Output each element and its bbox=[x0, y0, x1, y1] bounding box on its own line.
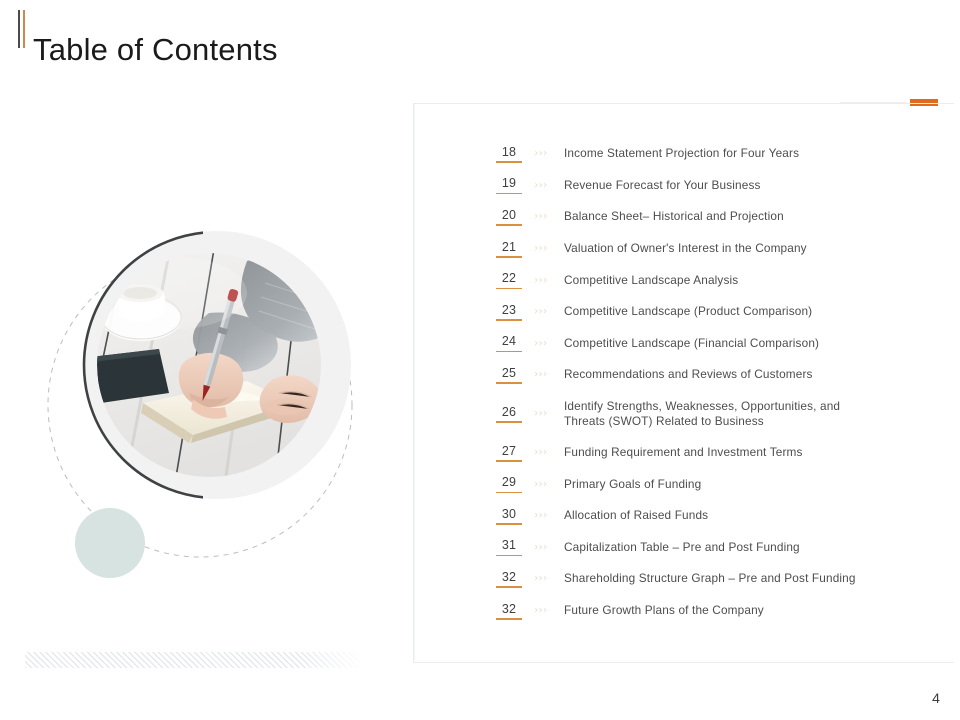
toc-label: Competitive Landscape (Product Compariso… bbox=[558, 304, 914, 319]
toc-number-cell: 20 bbox=[494, 208, 524, 226]
toc-label: Funding Requirement and Investment Terms bbox=[558, 445, 914, 460]
toc-row[interactable]: 30 ››› Allocation of Raised Funds bbox=[494, 500, 914, 532]
toc-label: Capitalization Table – Pre and Post Fund… bbox=[558, 540, 914, 555]
toc-number-cell: 19 bbox=[494, 176, 524, 194]
toc-number: 31 bbox=[494, 538, 524, 552]
photo-illustration-svg bbox=[97, 253, 321, 477]
toc-number-underline bbox=[496, 523, 522, 525]
hatch-band-fade bbox=[300, 652, 360, 668]
title-accent-bar-orange bbox=[23, 10, 25, 48]
toc-label: Revenue Forecast for Your Business bbox=[558, 178, 914, 193]
toc-number-cell: 26 bbox=[494, 405, 524, 423]
toc-label-line1: Identify Strengths, Weaknesses, Opportun… bbox=[564, 399, 914, 414]
chevrons-icon: ››› bbox=[524, 510, 558, 521]
toc-number-underline bbox=[496, 586, 522, 588]
toc-row[interactable]: 23 ››› Competitive Landscape (Product Co… bbox=[494, 296, 914, 328]
toc-number-underline bbox=[496, 421, 522, 423]
toc-number: 27 bbox=[494, 444, 524, 458]
chevrons-icon: ››› bbox=[524, 338, 558, 349]
toc-number-cell: 29 bbox=[494, 475, 524, 493]
toc-number-cell: 32 bbox=[494, 570, 524, 588]
toc-number: 18 bbox=[494, 145, 524, 159]
page-title: Table of Contents bbox=[33, 30, 278, 70]
toc-label-line1: Competitive Landscape (Financial Compari… bbox=[564, 336, 819, 350]
toc-number: 20 bbox=[494, 208, 524, 222]
toc-label-line2: Threats (SWOT) Related to Business bbox=[564, 414, 914, 429]
toc-number-cell: 27 bbox=[494, 444, 524, 462]
chevrons-icon: ››› bbox=[524, 447, 558, 458]
circular-photo bbox=[97, 253, 321, 477]
toc-row[interactable]: 29 ››› Primary Goals of Funding bbox=[494, 468, 914, 500]
toc-label-line1: Primary Goals of Funding bbox=[564, 477, 701, 491]
toc-label-line1: Valuation of Owner's Interest in the Com… bbox=[564, 241, 807, 255]
toc-number-cell: 22 bbox=[494, 271, 524, 289]
chevrons-icon: ››› bbox=[524, 211, 558, 222]
chevrons-icon: ››› bbox=[524, 180, 558, 191]
toc-number-underline bbox=[496, 224, 522, 226]
toc-label: Allocation of Raised Funds bbox=[558, 508, 914, 523]
toc-row[interactable]: 32 ››› Future Growth Plans of the Compan… bbox=[494, 595, 914, 627]
chevrons-icon: ››› bbox=[524, 243, 558, 254]
toc-number-underline bbox=[496, 492, 522, 494]
toc-number-underline bbox=[496, 288, 522, 290]
toc-number-underline bbox=[496, 256, 522, 258]
toc-number: 32 bbox=[494, 602, 524, 616]
toc-number-underline bbox=[496, 161, 522, 163]
toc-number: 23 bbox=[494, 303, 524, 317]
chevrons-icon: ››› bbox=[524, 306, 558, 317]
title-accent-bar-dark bbox=[18, 10, 20, 48]
toc-number-cell: 18 bbox=[494, 145, 524, 163]
page-number: 4 bbox=[926, 690, 946, 706]
toc-number-underline bbox=[496, 555, 522, 557]
chevrons-icon: ››› bbox=[524, 479, 558, 490]
toc-row[interactable]: 20 ››› Balance Sheet– Historical and Pro… bbox=[494, 201, 914, 233]
toc-label: Competitive Landscape Analysis bbox=[558, 273, 914, 288]
toc-number-cell: 32 bbox=[494, 602, 524, 620]
toc-label: Valuation of Owner's Interest in the Com… bbox=[558, 241, 914, 256]
slide-canvas: Table of Contents bbox=[0, 0, 960, 720]
toc-row[interactable]: 19 ››› Revenue Forecast for Your Busines… bbox=[494, 170, 914, 202]
toc-number-underline bbox=[496, 351, 522, 353]
toc-label: Identify Strengths, Weaknesses, Opportun… bbox=[558, 399, 914, 429]
toc-row[interactable]: 26 ››› Identify Strengths, Weaknesses, O… bbox=[494, 391, 914, 437]
title-accent-bars bbox=[18, 10, 25, 48]
chevrons-icon: ››› bbox=[524, 573, 558, 584]
toc-label-line1: Funding Requirement and Investment Terms bbox=[564, 445, 803, 459]
toc-number: 21 bbox=[494, 240, 524, 254]
toc-row[interactable]: 22 ››› Competitive Landscape Analysis bbox=[494, 264, 914, 296]
toc-label-line1: Competitive Landscape Analysis bbox=[564, 273, 738, 287]
toc-number: 26 bbox=[494, 405, 524, 419]
toc-label-line1: Competitive Landscape (Product Compariso… bbox=[564, 304, 812, 318]
toc-list: 18 ››› Income Statement Projection for F… bbox=[494, 138, 914, 626]
toc-row[interactable]: 24 ››› Competitive Landscape (Financial … bbox=[494, 328, 914, 360]
toc-row[interactable]: 32 ››› Shareholding Structure Graph – Pr… bbox=[494, 563, 914, 595]
toc-number-underline bbox=[496, 319, 522, 321]
toc-label-line1: Balance Sheet– Historical and Projection bbox=[564, 209, 784, 223]
toc-number-cell: 30 bbox=[494, 507, 524, 525]
toc-number-cell: 24 bbox=[494, 334, 524, 352]
toc-label-line1: Shareholding Structure Graph – Pre and P… bbox=[564, 571, 856, 585]
toc-number: 25 bbox=[494, 366, 524, 380]
toc-number: 24 bbox=[494, 334, 524, 348]
chevrons-icon: ››› bbox=[524, 542, 558, 553]
toc-number: 19 bbox=[494, 176, 524, 190]
toc-label: Recommendations and Reviews of Customers bbox=[558, 367, 914, 382]
toc-number-underline bbox=[496, 382, 522, 384]
toc-number: 22 bbox=[494, 271, 524, 285]
chevrons-icon: ››› bbox=[524, 408, 558, 419]
toc-label: Primary Goals of Funding bbox=[558, 477, 914, 492]
toc-label-line1: Recommendations and Reviews of Customers bbox=[564, 367, 813, 381]
toc-number: 29 bbox=[494, 475, 524, 489]
toc-label-line1: Allocation of Raised Funds bbox=[564, 508, 708, 522]
toc-number-underline bbox=[496, 460, 522, 462]
toc-label: Income Statement Projection for Four Yea… bbox=[558, 146, 914, 161]
toc-label: Future Growth Plans of the Company bbox=[558, 603, 914, 618]
toc-row[interactable]: 18 ››› Income Statement Projection for F… bbox=[494, 138, 914, 170]
toc-label-line1: Revenue Forecast for Your Business bbox=[564, 178, 761, 192]
toc-number-cell: 31 bbox=[494, 538, 524, 556]
toc-row[interactable]: 27 ››› Funding Requirement and Investmen… bbox=[494, 437, 914, 469]
toc-number: 30 bbox=[494, 507, 524, 521]
sage-solid-circle bbox=[75, 508, 145, 578]
toc-label-line1: Capitalization Table – Pre and Post Fund… bbox=[564, 540, 800, 554]
toc-number-cell: 23 bbox=[494, 303, 524, 321]
toc-number: 32 bbox=[494, 570, 524, 584]
chevrons-icon: ››› bbox=[524, 369, 558, 380]
chevrons-icon: ››› bbox=[524, 148, 558, 159]
toc-number-underline bbox=[496, 618, 522, 620]
chevrons-icon: ››› bbox=[524, 275, 558, 286]
toc-label-line1: Income Statement Projection for Four Yea… bbox=[564, 146, 799, 160]
toc-number-cell: 25 bbox=[494, 366, 524, 384]
toc-number-cell: 21 bbox=[494, 240, 524, 258]
toc-number-underline bbox=[496, 193, 522, 195]
toc-row[interactable]: 31 ››› Capitalization Table – Pre and Po… bbox=[494, 532, 914, 564]
toc-label: Shareholding Structure Graph – Pre and P… bbox=[558, 571, 914, 586]
toc-row[interactable]: 25 ››› Recommendations and Reviews of Cu… bbox=[494, 359, 914, 391]
chevrons-icon: ››› bbox=[524, 605, 558, 616]
toc-row[interactable]: 21 ››› Valuation of Owner's Interest in … bbox=[494, 233, 914, 265]
toc-label-line1: Future Growth Plans of the Company bbox=[564, 603, 764, 617]
toc-label: Balance Sheet– Historical and Projection bbox=[558, 209, 914, 224]
toc-label: Competitive Landscape (Financial Compari… bbox=[558, 336, 914, 351]
